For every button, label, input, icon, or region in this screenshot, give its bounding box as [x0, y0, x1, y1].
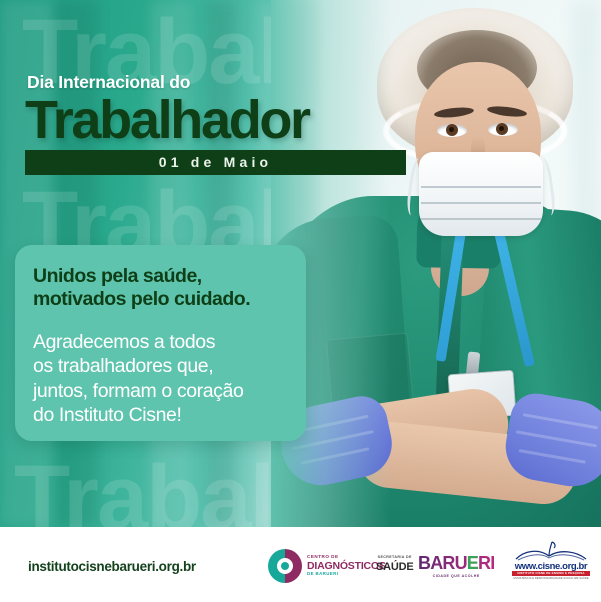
saude-line-1: SECRETARIA DE: [376, 556, 414, 560]
message-strong-line-1: Unidos pela saúde,: [33, 265, 288, 288]
glove-crease-5: [516, 430, 597, 447]
message-body-line-3: juntos, formam o coração: [33, 379, 288, 403]
artwork-area: Trabalhador Trabalhador Trabalhador: [0, 0, 601, 527]
barueri-logo[interactable]: BARUERI CIDADE QUE ACOLHE: [418, 554, 494, 578]
face-mask: [419, 152, 543, 236]
headline-block: Dia Internacional do Trabalhador 01 de M…: [27, 72, 406, 175]
face-mask-pleat-2: [421, 202, 541, 204]
cisne-red-band: INSTITUTO CISNE DE ENSINO E PESQUISA: [512, 571, 590, 576]
message-body: Agradecemos a todos os trabalhadores que…: [33, 330, 288, 428]
poster: Trabalhador Trabalhador Trabalhador: [0, 0, 601, 602]
pupil-left: [449, 127, 454, 132]
face-mask-pleat-3: [421, 218, 541, 220]
centro-de-diagnosticos-logo[interactable]: CENTRO DE DIAGNÓSTICOS DE BARUERI: [268, 549, 386, 583]
barueri-word-a: BARU: [418, 553, 467, 573]
secretaria-de-saude-logo[interactable]: SECRETARIA DE SAÚDE: [376, 556, 414, 573]
cd-line-2: DIAGNÓSTICOS: [307, 561, 386, 572]
partner-logos: CENTRO DE DIAGNÓSTICOS DE BARUERI SECRET…: [268, 545, 593, 593]
cisne-swan-logo[interactable]: www.cisne.org.br INSTITUTO CISNE DE ENSI…: [508, 540, 593, 590]
pupil-right: [499, 126, 504, 131]
date-bar: 01 de Maio: [25, 150, 406, 175]
face-mask-pleat-1: [421, 186, 541, 188]
centro-de-diagnosticos-text: CENTRO DE DIAGNÓSTICOS DE BARUERI: [307, 555, 386, 577]
glove-crease-4: [523, 413, 598, 429]
message-strong-line-2: motivados pelo cuidado.: [33, 288, 288, 311]
page-title: Trabalhador: [25, 95, 406, 146]
message-body-line-1: Agradecemos a todos: [33, 330, 288, 354]
cd-line-3: DE BARUERI: [307, 572, 386, 576]
message-card: Unidos pela saúde, motivados pelo cuidad…: [15, 245, 306, 441]
glove-crease-6: [518, 449, 585, 464]
saude-line-2: SAÚDE: [376, 562, 414, 573]
website-url[interactable]: institutocisnebarueri.org.br: [28, 559, 196, 574]
barueri-subtitle: CIDADE QUE ACOLHE: [418, 574, 494, 578]
barueri-wordmark: BARUERI: [418, 554, 494, 572]
cisne-foot-text: ASSISTÊNCIA E RESPONSABILIDADE SOCIAL EM…: [512, 577, 590, 580]
barueri-word-b: RI: [478, 553, 494, 573]
diagnostics-circle-icon: [268, 549, 302, 583]
date-bar-label: 01 de Maio: [159, 154, 273, 170]
message-body-line-2: os trabalhadores que,: [33, 354, 288, 378]
message-body-line-4: do Instituto Cisne!: [33, 403, 288, 427]
barueri-word-e: E: [467, 553, 478, 573]
